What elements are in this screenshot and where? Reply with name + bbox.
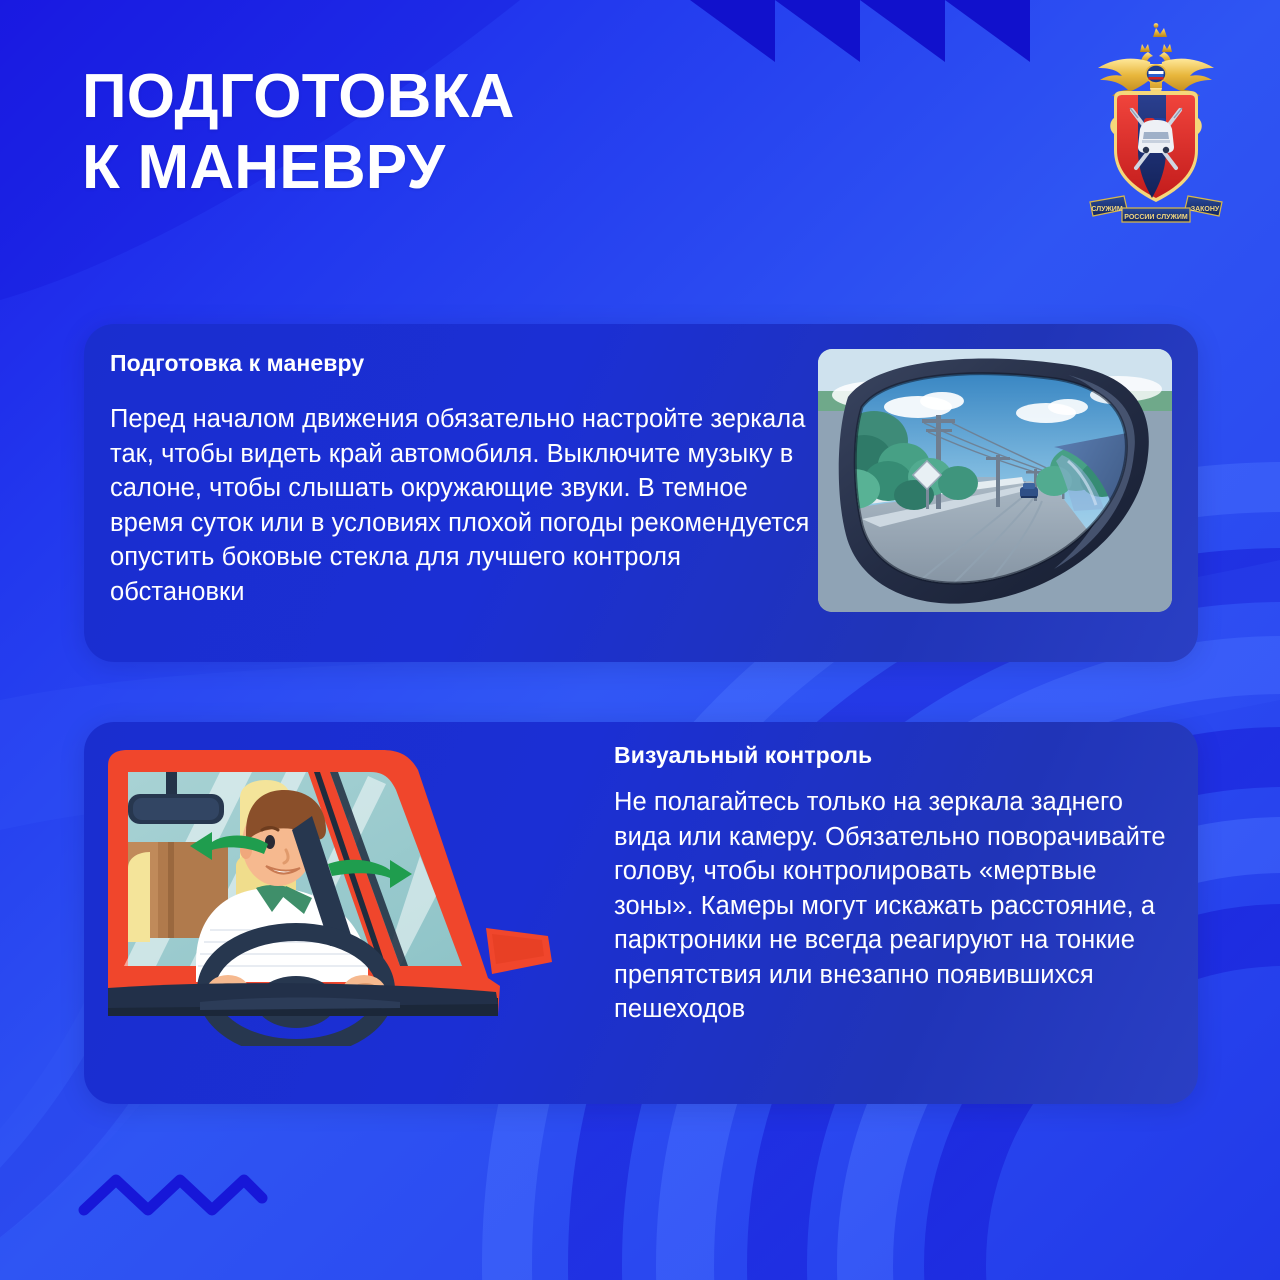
card-preparation: Подготовка к маневру Перед началом движе… — [84, 324, 1198, 662]
card-visual-control: Визуальный контроль Не полагайтесь тольк… — [84, 722, 1198, 1104]
driver-head-turn-illustration-icon — [100, 746, 590, 1046]
card2-heading: Визуальный контроль — [614, 742, 1170, 769]
bottom-zigzag-decoration — [78, 1168, 268, 1220]
side-mirror-illustration-icon — [818, 349, 1172, 612]
ribbon-text-center: РОССИИ СЛУЖИМ — [1124, 214, 1188, 221]
card2-body: Не полагайтесь только на зеркала заднего… — [614, 785, 1170, 1027]
card2-illustration — [100, 746, 590, 1046]
double-headed-eagle-icon — [1098, 23, 1214, 102]
page-title-line-1: ПОДГОТОВКА — [82, 62, 515, 131]
card1-illustration — [818, 349, 1172, 612]
page-title-line-2: К МАНЕВРУ — [82, 133, 515, 204]
card1-body: Перед началом движения обязательно настр… — [110, 402, 810, 609]
card2-text-column: Визуальный контроль Не полагайтесь тольк… — [614, 742, 1170, 1027]
page-title: ПОДГОТОВКА К МАНЕВРУ — [82, 62, 515, 203]
card1-heading: Подготовка к маневру — [110, 350, 810, 377]
gibdd-emblem-icon: СЛУЖИМ РОССИИ СЛУЖИМ ЗАКОНУ — [1072, 22, 1240, 234]
ribbon-text-right: ЗАКОНУ — [1191, 206, 1220, 213]
card1-text-column: Подготовка к маневру Перед началом движе… — [110, 350, 810, 609]
shield-icon — [1110, 91, 1202, 202]
top-zigzag-decoration — [690, 0, 1030, 62]
ribbon-text-left: СЛУЖИМ — [1091, 206, 1123, 213]
